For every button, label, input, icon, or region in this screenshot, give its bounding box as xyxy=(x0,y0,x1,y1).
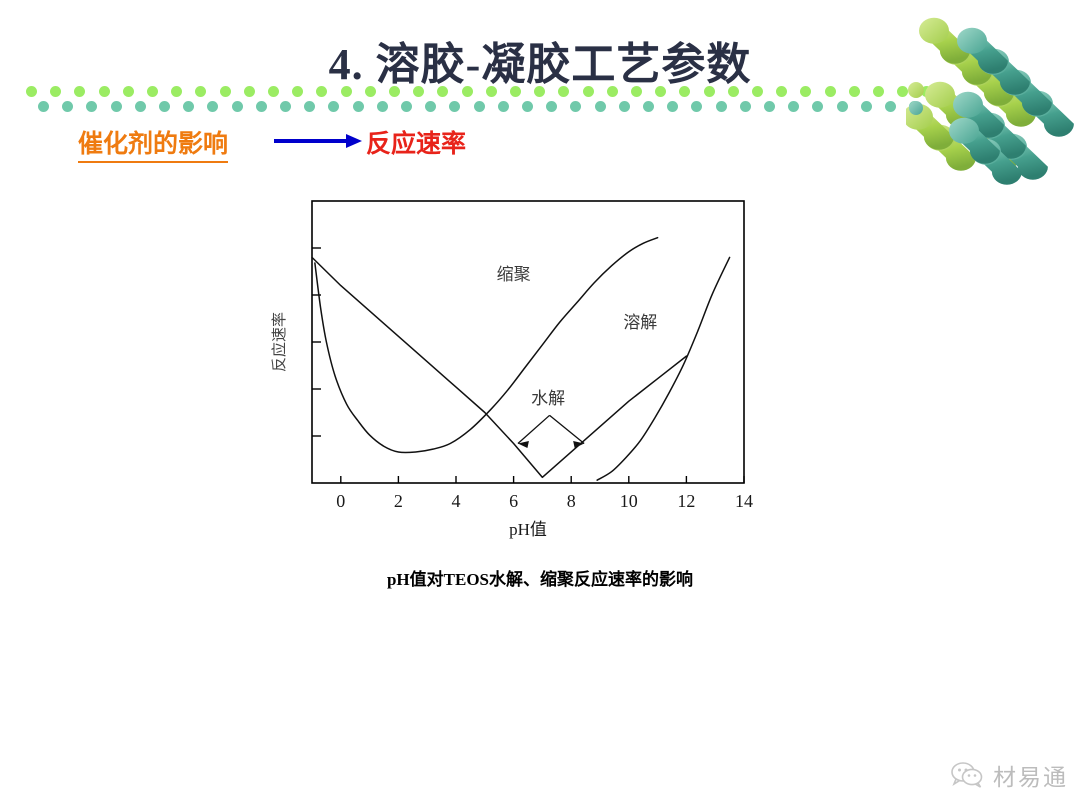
divider-dot-top xyxy=(413,86,424,97)
divider-dot-top xyxy=(728,86,739,97)
cylinder-cluster-graphic xyxy=(906,12,1076,197)
curve-溶解 xyxy=(597,257,729,480)
divider-dot-bottom xyxy=(135,101,146,112)
divider-dot-bottom xyxy=(667,101,678,112)
divider-dot-bottom xyxy=(328,101,339,112)
divider-dot-bottom xyxy=(619,101,630,112)
x-tick-label: 10 xyxy=(620,491,638,511)
divider-dot-top xyxy=(244,86,255,97)
chart-svg: 02468101214pH值反应速率缩聚溶解水解 xyxy=(262,190,762,540)
divider-dot-top xyxy=(534,86,545,97)
divider-dot-bottom xyxy=(353,101,364,112)
divider-dot-bottom xyxy=(86,101,97,112)
watermark: 材易通 xyxy=(951,758,1068,792)
catalyst-influence-label: 催化剂的影响 xyxy=(78,124,228,163)
divider-dot-bottom xyxy=(522,101,533,112)
small-teal-dot xyxy=(909,101,923,115)
divider-dot-bottom xyxy=(304,101,315,112)
x-tick-label: 4 xyxy=(452,491,461,511)
watermark-text: 材易通 xyxy=(993,758,1068,792)
divider-dot-bottom xyxy=(643,101,654,112)
divider-dot-bottom xyxy=(691,101,702,112)
divider-dot-bottom xyxy=(449,101,460,112)
divider-dot-top xyxy=(704,86,715,97)
cylinder-cap xyxy=(949,118,979,144)
divider-dot-top xyxy=(825,86,836,97)
figure-caption: pH值对TEOS水解、缩聚反应速率的影响 xyxy=(0,565,1080,590)
y-axis-label: 反应速率 xyxy=(270,312,288,372)
slide-root: 4. 溶胶-凝胶工艺参数 催化剂的影响 反应速率 02468101214pH值反… xyxy=(0,0,1080,810)
divider-dot-bottom xyxy=(425,101,436,112)
divider-dot-top xyxy=(776,86,787,97)
annotation-水解: 水解 xyxy=(531,389,565,408)
divider-dot-top xyxy=(558,86,569,97)
divider-dot-top xyxy=(800,86,811,97)
divider-dot-top xyxy=(389,86,400,97)
implies-arrow-icon xyxy=(274,133,366,149)
divider-dot-top xyxy=(607,86,618,97)
reaction-rate-label: 反应速率 xyxy=(366,124,466,160)
x-tick-label: 14 xyxy=(735,491,753,511)
curve-水解 xyxy=(312,257,686,477)
divider-dot-top xyxy=(171,86,182,97)
divider-dot-top xyxy=(50,86,61,97)
divider-dot-top xyxy=(365,86,376,97)
small-green-dot xyxy=(908,82,924,98)
divider-dot-top xyxy=(268,86,279,97)
divider-dot-top xyxy=(752,86,763,97)
divider-dot-bottom xyxy=(280,101,291,112)
divider-dot-top xyxy=(26,86,37,97)
x-axis-label: pH值 xyxy=(509,520,547,539)
divider-dot-bottom xyxy=(812,101,823,112)
divider-dot-bottom xyxy=(885,101,896,112)
divider-dot-bottom xyxy=(62,101,73,112)
cylinder-cap xyxy=(925,82,955,108)
x-tick-label: 2 xyxy=(394,491,403,511)
divider-dot-bottom xyxy=(546,101,557,112)
x-tick-label: 12 xyxy=(677,491,695,511)
cylinder-cap xyxy=(953,92,983,118)
divider-dot-top xyxy=(510,86,521,97)
divider-dot-bottom xyxy=(595,101,606,112)
divider-dot-bottom xyxy=(764,101,775,112)
divider-dot-bottom xyxy=(401,101,412,112)
cylinder-cap xyxy=(957,28,987,54)
hydrolysis-arrow-left xyxy=(518,415,550,443)
cylinder-cap xyxy=(919,18,949,44)
divider-dot-top xyxy=(631,86,642,97)
divider-dot-top xyxy=(655,86,666,97)
divider-dot-bottom xyxy=(183,101,194,112)
divider-dot-top xyxy=(486,86,497,97)
divider-dot-bottom xyxy=(377,101,388,112)
cylinder-cluster-svg xyxy=(906,12,1076,197)
divider-dot-top xyxy=(583,86,594,97)
divider-dot-bottom xyxy=(207,101,218,112)
divider-dot-top xyxy=(220,86,231,97)
divider-dot-top xyxy=(292,86,303,97)
divider-dot-top xyxy=(341,86,352,97)
divider-dot-bottom xyxy=(159,101,170,112)
divider-dot-top xyxy=(462,86,473,97)
divider-dot-top xyxy=(873,86,884,97)
reaction-rate-chart: 02468101214pH值反应速率缩聚溶解水解 xyxy=(262,190,762,540)
annotation-溶解: 溶解 xyxy=(623,313,657,332)
divider-dot-bottom xyxy=(740,101,751,112)
divider-dot-bottom xyxy=(861,101,872,112)
annotation-缩聚: 缩聚 xyxy=(497,265,531,284)
divider-dot-top xyxy=(123,86,134,97)
divider-dot-bottom xyxy=(38,101,49,112)
divider-dot-top xyxy=(74,86,85,97)
divider-dot-bottom xyxy=(256,101,267,112)
divider-dot-top xyxy=(99,86,110,97)
divider-dot-bottom xyxy=(111,101,122,112)
divider-dot-top xyxy=(195,86,206,97)
divider-dot-bottom xyxy=(474,101,485,112)
x-tick-label: 6 xyxy=(509,491,518,511)
x-tick-label: 0 xyxy=(336,491,345,511)
divider-dot-bottom xyxy=(570,101,581,112)
divider-dot-top xyxy=(316,86,327,97)
divider-dot-bottom xyxy=(498,101,509,112)
divider-dot-top xyxy=(147,86,158,97)
divider-dot-top xyxy=(437,86,448,97)
x-tick-label: 8 xyxy=(567,491,576,511)
divider-dot-top xyxy=(849,86,860,97)
hydrolysis-arrow-right xyxy=(550,415,585,443)
divider-dot-bottom xyxy=(788,101,799,112)
divider-dot-bottom xyxy=(716,101,727,112)
wechat-icon xyxy=(951,762,985,788)
divider-dot-bottom xyxy=(232,101,243,112)
divider-dot-top xyxy=(679,86,690,97)
divider-dot-bottom xyxy=(837,101,848,112)
